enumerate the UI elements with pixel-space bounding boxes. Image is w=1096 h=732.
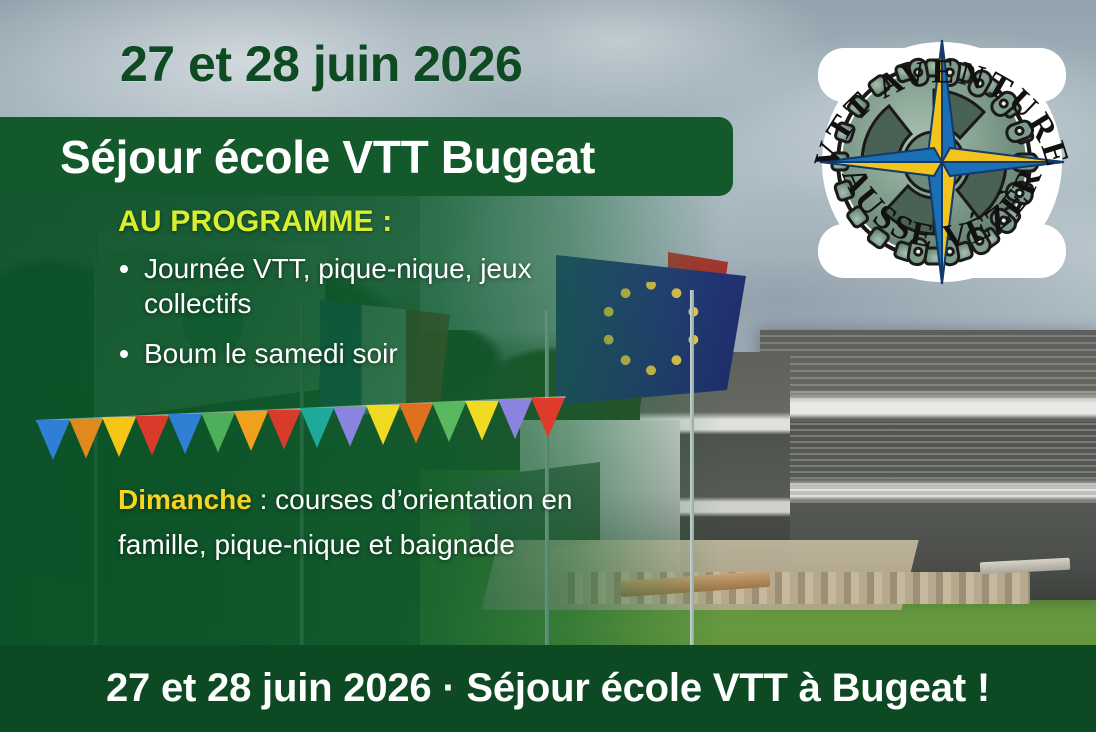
- title-banner: Séjour école VTT Bugeat: [0, 117, 733, 196]
- sunday-section: Dimanche : courses d’orientation en fami…: [118, 478, 658, 568]
- bunting-decoration: [36, 412, 566, 467]
- bunting-flag: [102, 417, 136, 457]
- bunting-flag: [465, 401, 499, 441]
- club-logo: VTT AVENTURE CAUSSE VÉZÈRE: [806, 12, 1078, 300]
- bunting-flag: [399, 404, 433, 444]
- bunting-flag: [300, 408, 334, 448]
- bunting-flag: [267, 410, 301, 450]
- sunday-separator: :: [252, 484, 275, 515]
- bunting-flag: [333, 407, 367, 447]
- bunting-flag: [201, 413, 235, 453]
- programme-heading: AU PROGRAMME :: [118, 205, 678, 239]
- bunting-flag: [432, 402, 466, 442]
- bunting-flag: [366, 405, 400, 445]
- page-title: Séjour école VTT Bugeat: [0, 130, 595, 184]
- poster-root: 27 et 28 juin 2026 Séjour école VTT Buge…: [0, 0, 1096, 732]
- programme-list: Journée VTT, pique-nique, jeux collectif…: [118, 251, 678, 371]
- bunting-flag: [135, 416, 169, 456]
- bunting-flag: [498, 399, 532, 439]
- event-date-heading: 27 et 28 juin 2026: [120, 35, 522, 93]
- bottom-banner: 27 et 28 juin 2026 · Séjour école VTT à …: [0, 645, 1096, 732]
- sunday-label: Dimanche: [118, 484, 252, 515]
- bunting-flag: [234, 411, 268, 451]
- bunting-flag: [531, 398, 565, 438]
- programme-section: AU PROGRAMME : Journée VTT, pique-nique,…: [118, 205, 678, 385]
- list-item: Boum le samedi soir: [118, 336, 634, 371]
- bottom-banner-text: 27 et 28 juin 2026 · Séjour école VTT à …: [106, 666, 990, 711]
- bunting-flag: [36, 420, 70, 460]
- bunting-flag: [69, 419, 103, 459]
- list-item: Journée VTT, pique-nique, jeux collectif…: [118, 251, 634, 322]
- bunting-flag: [168, 414, 202, 454]
